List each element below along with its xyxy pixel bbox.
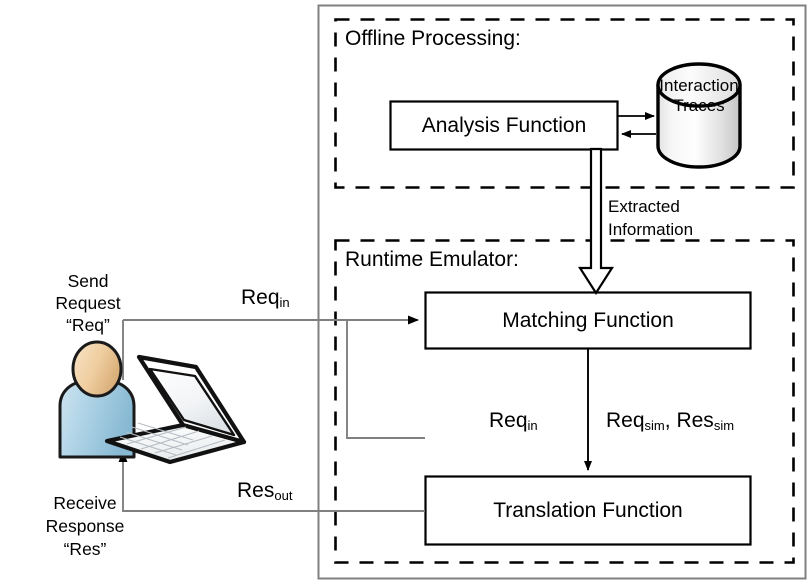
- runtime-emulator-title: Runtime Emulator:: [345, 248, 519, 272]
- receive-response-label-line2: Response: [10, 517, 160, 537]
- extracted-information-label-line2: Information: [608, 220, 693, 239]
- req-in-mid-subscript: in: [528, 418, 538, 433]
- sim-separator: ,: [665, 409, 677, 432]
- matching-function-label: Matching Function: [425, 292, 751, 349]
- res-sim-base: Res: [676, 409, 713, 432]
- req-sim-base: Req: [606, 409, 645, 432]
- receive-response-label-line3: “Res”: [10, 540, 160, 560]
- send-request-label-line2: Request: [18, 294, 158, 314]
- send-request-label-line3: “Req”: [18, 316, 158, 336]
- res-out-label: Resout: [237, 479, 292, 503]
- diagram-canvas: Offline Processing: Runtime Emulator: An…: [0, 0, 812, 587]
- req-sim-subscript: sim: [645, 418, 665, 433]
- extracted-information-label-line1: Extracted: [608, 197, 680, 216]
- req-in-top-label: Reqin: [241, 286, 290, 310]
- res-out-base: Res: [237, 479, 274, 502]
- req-in-top-base: Req: [241, 286, 280, 309]
- user-with-laptop-icon: [60, 342, 244, 462]
- req-in-feedback-line: [347, 321, 425, 438]
- send-request-label-line1: Send: [18, 272, 158, 292]
- res-sim-subscript: sim: [714, 418, 734, 433]
- receive-response-label-line1: Receive: [10, 494, 160, 514]
- sim-flow-label: Reqsim, Ressim: [606, 409, 734, 433]
- interaction-traces-label-line1: Interaction: [659, 76, 739, 95]
- req-in-mid-label: Reqin: [489, 409, 538, 433]
- offline-processing-title: Offline Processing:: [345, 27, 521, 51]
- interaction-traces-label-line2: Traces: [659, 96, 739, 115]
- req-in-top-subscript: in: [280, 295, 290, 310]
- req-in-mid-base: Req: [489, 409, 528, 432]
- res-out-subscript: out: [274, 488, 292, 503]
- analysis-function-label: Analysis Function: [390, 101, 618, 150]
- translation-function-label: Translation Function: [425, 476, 751, 545]
